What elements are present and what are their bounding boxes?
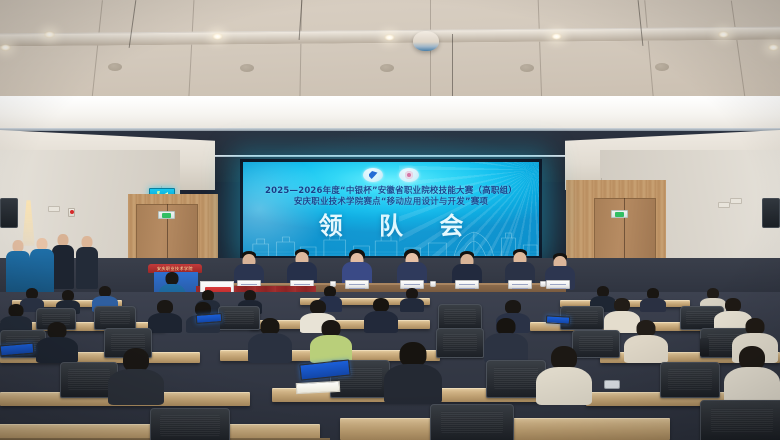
audience-member xyxy=(640,288,666,310)
name-card xyxy=(345,280,369,289)
audience-member xyxy=(384,342,442,402)
audience-chair xyxy=(430,404,514,440)
audience-member xyxy=(624,320,668,362)
audience-member xyxy=(724,346,780,404)
door-exit-plate xyxy=(158,211,175,219)
emblem-logo-icon xyxy=(363,168,383,182)
audience-chair xyxy=(438,304,482,330)
water-cup xyxy=(540,281,546,287)
wall-speaker xyxy=(762,198,780,228)
laptop[interactable] xyxy=(196,313,223,324)
name-card xyxy=(455,280,479,289)
wall-switch-plate xyxy=(718,202,730,208)
audience-member xyxy=(148,300,182,332)
rosette-logo-icon xyxy=(399,168,419,182)
water-bottle[interactable] xyxy=(700,338,709,356)
audience-member xyxy=(0,304,32,332)
audience-member xyxy=(400,288,424,310)
wall-switch-plate xyxy=(730,198,742,204)
wall-speaker xyxy=(0,198,18,228)
fire-alarm-button[interactable] xyxy=(68,208,75,217)
audience-chair xyxy=(660,362,720,398)
screen-logos xyxy=(363,168,419,182)
door-exit-plate xyxy=(611,210,628,218)
audience-member xyxy=(364,298,398,332)
audience-member xyxy=(108,348,164,404)
name-card xyxy=(508,280,532,289)
led-backdrop-screen: 2025—2026年度“中银杯”安徽省职业院校技能大赛（高职组） 安庆职业技术学… xyxy=(240,159,542,259)
handout-paper[interactable] xyxy=(296,381,341,394)
wall-switch-plate xyxy=(48,206,60,212)
smoke-detector-icon xyxy=(413,31,439,51)
water-cup xyxy=(430,281,436,287)
audience-member xyxy=(248,318,292,362)
name-card xyxy=(546,280,570,289)
standing-staff xyxy=(52,234,74,292)
audience-chair xyxy=(436,328,484,358)
audience-member xyxy=(310,320,352,362)
audience-chair xyxy=(94,306,136,330)
audience-member xyxy=(484,318,528,362)
audience-member xyxy=(536,346,592,404)
audience-chair xyxy=(150,408,230,440)
audience-chair xyxy=(700,400,780,440)
mobile-phone[interactable] xyxy=(604,380,620,389)
audience-member xyxy=(36,322,78,362)
standing-staff xyxy=(76,236,98,292)
conference-hall-photo: 2025—2026年度“中银杯”安徽省职业院校技能大赛（高职组） 安庆职业技术学… xyxy=(0,0,780,440)
laptop[interactable] xyxy=(546,315,570,324)
